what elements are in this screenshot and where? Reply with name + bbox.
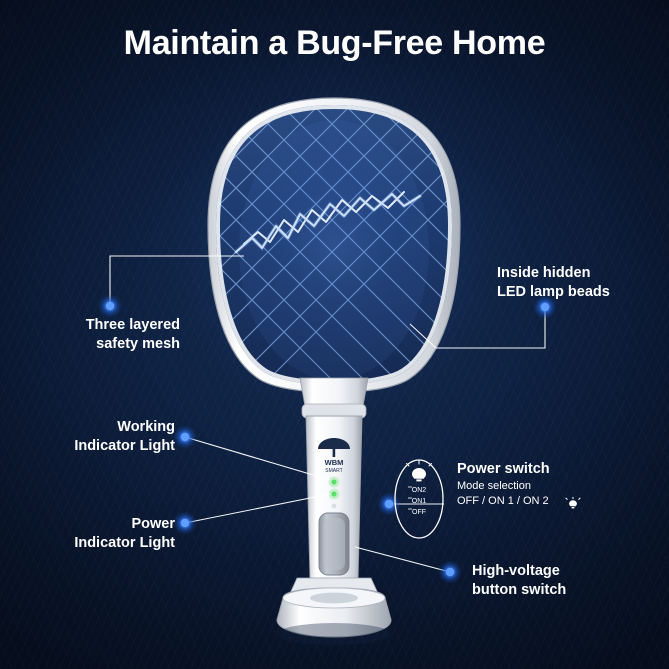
callout-sublabel-power-switch: Mode selection OFF / ON 1 / ON 2 [457, 479, 657, 509]
callout-label-working-indicator-light: Working Indicator Light [20, 418, 175, 455]
callout-label-three-layered-safety-mesh: Three layered safety mesh [20, 316, 180, 353]
callout-label-high-voltage-button-switch: High-voltage button switch [472, 562, 662, 599]
svg-text:WBM: WBM [325, 458, 344, 467]
bulb-icon [565, 497, 581, 513]
callout-label-power-indicator-light: Power Indicator Light [20, 515, 175, 552]
svg-text:SMART: SMART [325, 468, 342, 474]
infographic-stage: Maintain a Bug-Free Home [0, 0, 669, 669]
page-title: Maintain a Bug-Free Home [0, 24, 669, 63]
callout-label-inside-hidden-led-lamp-beads: Inside hidden LED lamp beads [497, 264, 657, 301]
callout-label-power-switch: Power switch [457, 460, 657, 479]
